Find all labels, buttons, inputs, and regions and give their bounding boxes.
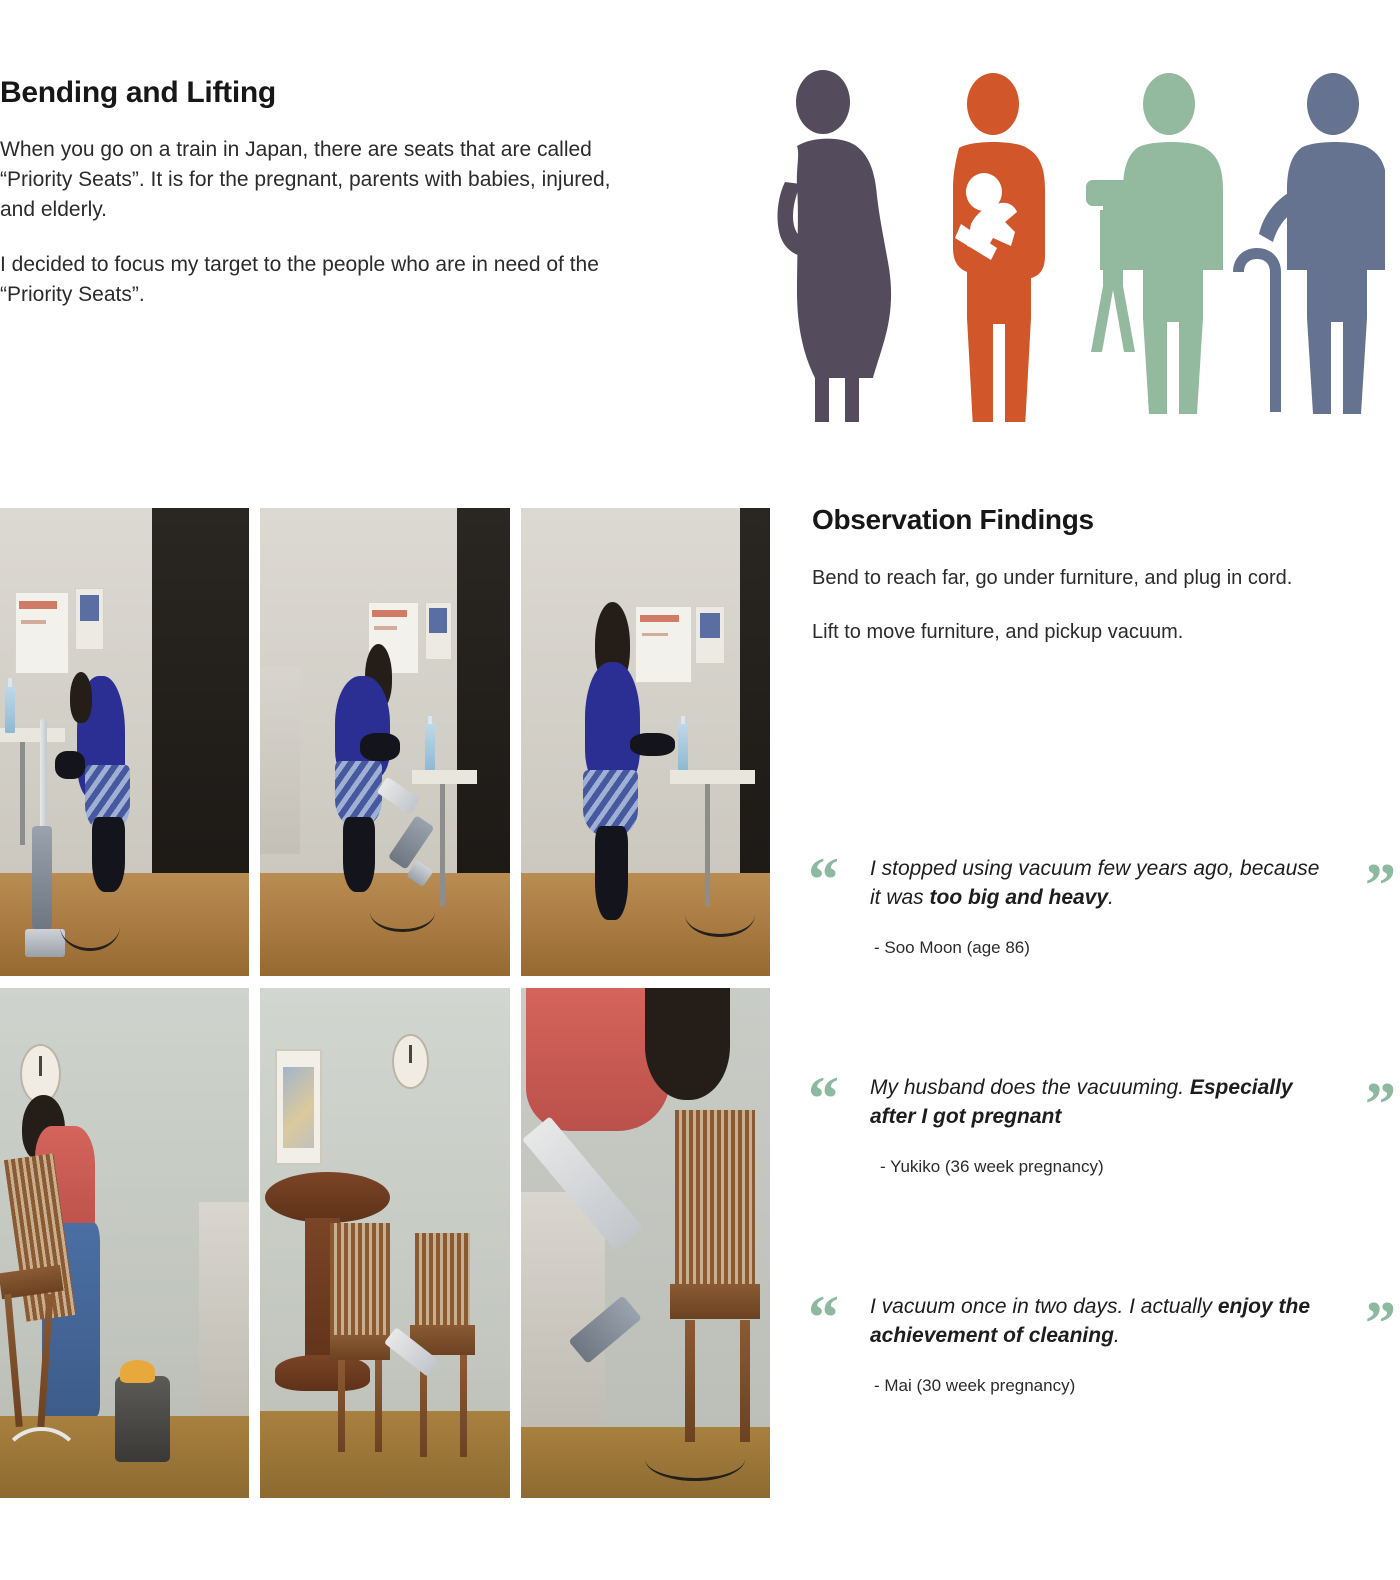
open-quote-icon: “ [808, 1068, 839, 1130]
quotes-section: “ ” I stopped using vacuum few years ago… [808, 855, 1388, 1396]
findings-paragraph-2: Lift to move furniture, and pickup vacuu… [812, 618, 1372, 646]
pregnant-woman-pictogram [778, 70, 892, 422]
intro-section: Bending and Lifting When you go on a tra… [0, 76, 640, 310]
elderly-with-cane-pictogram [1233, 73, 1385, 414]
observation-findings-section: Observation Findings Bend to reach far, … [812, 505, 1372, 647]
quote-text: I vacuum once in two days. I actually en… [870, 1293, 1388, 1350]
quote-block-mai: “ ” I vacuum once in two days. I actuall… [808, 1293, 1388, 1396]
findings-title: Observation Findings [812, 505, 1372, 536]
quote-block-soo-moon: “ ” I stopped using vacuum few years ago… [808, 855, 1388, 958]
observation-photo-grid [0, 508, 770, 1500]
open-quote-icon: “ [808, 849, 839, 911]
photo-lifting-table-edge [521, 508, 770, 976]
photo-bending-to-reach-far [0, 508, 249, 976]
quote-attribution: - Yukiko (36 week pregnancy) [880, 1157, 1388, 1177]
quote-text-before: My husband does the vacuuming. [870, 1076, 1190, 1099]
page-title: Bending and Lifting [0, 76, 640, 109]
findings-paragraph-1: Bend to reach far, go under furniture, a… [812, 564, 1372, 592]
quote-text: My husband does the vacuuming. Especiall… [870, 1074, 1388, 1131]
quote-text-after: . [1114, 1324, 1120, 1347]
quote-text-after: . [1108, 886, 1114, 909]
slide-page: Bending and Lifting When you go on a tra… [0, 0, 1400, 1580]
quote-emphasis: too big and heavy [930, 886, 1109, 909]
priority-seat-pictogram-group [745, 62, 1385, 422]
quote-text-before: I vacuum once in two days. I actually [870, 1295, 1218, 1318]
quote-text: I stopped using vacuum few years ago, be… [870, 855, 1388, 912]
quote-attribution: - Soo Moon (age 86) [874, 938, 1388, 958]
parent-with-baby-pictogram [953, 73, 1045, 422]
photo-vacuum-under-table [260, 988, 509, 1498]
intro-paragraph-2: I decided to focus my target to the peop… [0, 250, 640, 310]
open-quote-icon: “ [808, 1287, 839, 1349]
close-quote-icon: ” [1365, 1074, 1396, 1136]
photo-vacuuming-bent-over [260, 508, 509, 976]
photo-row-bottom [0, 988, 770, 1498]
photo-row-top [0, 508, 770, 976]
quote-attribution: - Mai (30 week pregnancy) [874, 1376, 1388, 1396]
photo-bending-over-vacuum [521, 988, 770, 1498]
quote-block-yukiko: “ ” My husband does the vacuuming. Espec… [808, 1074, 1388, 1177]
photo-lifting-chair [0, 988, 249, 1498]
close-quote-icon: ” [1365, 1293, 1396, 1355]
person-with-crutch-pictogram [1086, 73, 1223, 414]
close-quote-icon: ” [1365, 855, 1396, 917]
intro-paragraph-1: When you go on a train in Japan, there a… [0, 135, 640, 224]
